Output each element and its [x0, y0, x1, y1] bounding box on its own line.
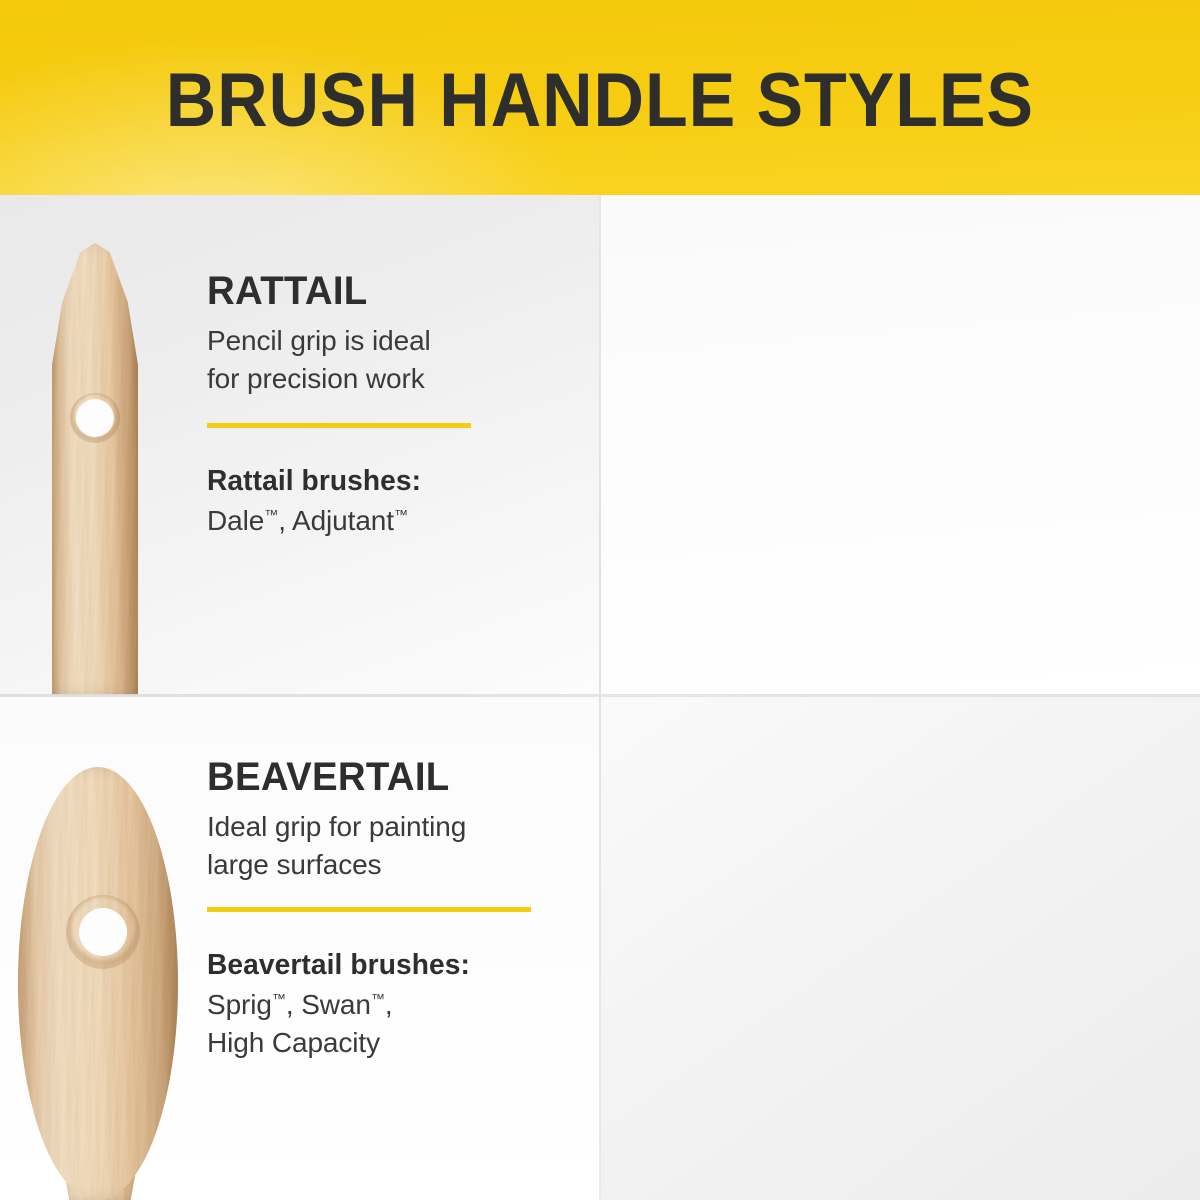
style-name-beavertail: BEAVERTAIL — [207, 757, 545, 798]
style-description-beavertail: Ideal grip for painting large surfaces — [207, 808, 559, 885]
panel-divider-vertical — [599, 195, 601, 1200]
panel-beavertail: BEAVERTAIL Ideal grip for painting large… — [0, 695, 600, 1200]
brushes-label-beavertail: Beavertail brushes: — [207, 950, 548, 982]
panel-fluted: FLUTED Rests easily in your hand Fluted … — [600, 195, 1200, 695]
style-name-rattail: RATTAIL — [207, 271, 543, 312]
header-banner: BRUSH HANDLE STYLES — [0, 0, 1200, 195]
brushes-line: High Capacity — [207, 1027, 380, 1058]
infographic-page: BRUSH HANDLE STYLES RATTAIL Pencil grip … — [0, 0, 1200, 1200]
brushes-label-rattail: Rattail brushes: — [207, 466, 547, 498]
beavertail-text-block: BEAVERTAIL Ideal grip for painting large… — [207, 757, 559, 1062]
page-title: BRUSH HANDLE STYLES — [166, 63, 1034, 139]
panel-short: SHORT Handle won’t get in the way when p… — [600, 695, 1200, 1200]
rattail-handle-photo — [52, 243, 138, 695]
trademark-symbol: ™ — [371, 991, 385, 1007]
trademark-symbol: ™ — [394, 507, 408, 523]
desc-line: for precision work — [207, 363, 425, 394]
panel-divider-horizontal — [0, 694, 1200, 697]
accent-rule-rattail — [207, 423, 471, 428]
trademark-symbol: ™ — [264, 507, 278, 523]
style-description-rattail: Pencil grip is ideal for precision work — [207, 322, 557, 399]
accent-rule-beavertail — [207, 907, 531, 912]
brushes-list-beavertail: Sprig™, Swan™, High Capacity — [207, 986, 559, 1062]
panel-rattail: RATTAIL Pencil grip is ideal for precisi… — [0, 195, 600, 695]
desc-line: Pencil grip is ideal — [207, 325, 431, 356]
trademark-symbol: ™ — [272, 991, 286, 1007]
brushes-list-rattail: Dale™, Adjutant™ — [207, 502, 557, 540]
rattail-text-block: RATTAIL Pencil grip is ideal for precisi… — [207, 271, 557, 540]
desc-line: large surfaces — [207, 849, 381, 880]
beavertail-handle-photo — [18, 767, 178, 1200]
desc-line: Ideal grip for painting — [207, 811, 466, 842]
